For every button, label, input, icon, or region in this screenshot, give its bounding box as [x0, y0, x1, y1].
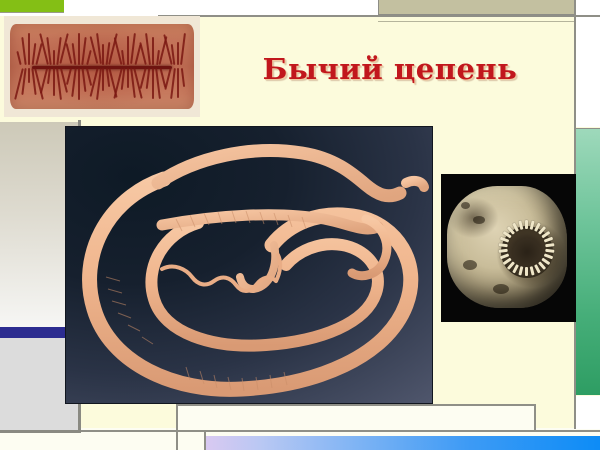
decor-white-panel-bottomright [576, 396, 600, 429]
decor-horizontal-line-top [158, 15, 600, 17]
proglottid-uterus-branch [85, 68, 91, 86]
proglottid-uterus-branch [78, 33, 80, 65]
slide-canvas: Бычий цепень [0, 0, 600, 450]
proglottid-uterus-branch [102, 68, 104, 91]
scolex-surface-mark [493, 284, 509, 294]
scolex-hook [518, 266, 523, 275]
scolex-surface-mark [463, 260, 477, 270]
decor-rectangle-bottom-center [176, 404, 536, 432]
proglottid-uterus-branch [152, 37, 154, 64]
scolex-hook [525, 267, 528, 276]
figure-scolex-head [441, 174, 576, 322]
proglottid-uterus-branch [81, 68, 86, 92]
decor-khaki-bar-topright [378, 0, 575, 15]
figure-whole-tapeworm [66, 127, 432, 403]
proglottid-uterus-branch [16, 51, 21, 65]
scolex-sucker [501, 226, 553, 278]
proglottid-uterus-branch [180, 33, 186, 65]
proglottid-uterus-branch [21, 37, 26, 65]
decor-blue-gradient-bar-bottom [206, 436, 600, 450]
proglottid-uterus-branch [66, 68, 72, 85]
proglottid-uterus-branches [10, 24, 194, 109]
proglottid-uterus-branch [81, 37, 86, 65]
decor-vertical-tick-bottom-left [176, 430, 178, 450]
proglottid-uterus-branch [146, 68, 151, 89]
proglottid-uterus-branch [53, 50, 55, 64]
proglottid-uterus-branch [86, 50, 91, 65]
proglottid-uterus-branch [152, 68, 154, 99]
scolex-hook [530, 266, 535, 275]
proglottid-uterus-branch [177, 68, 179, 98]
proglottid-tissue [10, 24, 194, 109]
proglottid-uterus-branch [53, 68, 55, 96]
scolex-surface-mark [473, 216, 485, 224]
proglottid-uterus-branch [78, 68, 80, 100]
proglottid-uterus-branch [170, 68, 176, 99]
decor-horizontal-line-bottom-left [0, 430, 81, 433]
scolex-surface-mark [461, 202, 470, 209]
proglottid-uterus-branch [181, 68, 185, 87]
proglottid-uterus-branch [121, 50, 125, 65]
tapeworm-strobila-illustration [66, 127, 432, 403]
proglottid-uterus-branch [127, 36, 129, 65]
proglottid-uterus-branch [28, 68, 30, 83]
page-title: Бычий цепень [220, 48, 560, 90]
proglottid-uterus-branch [127, 68, 129, 88]
decor-green-bar-topleft [0, 0, 64, 13]
figure-proglottid-specimen [4, 16, 200, 117]
proglottid-uterus-branch [28, 33, 30, 65]
decor-horizontal-line-bottom [81, 430, 600, 432]
proglottid-uterus-branch [177, 42, 179, 65]
decor-green-gradient-panel-right [576, 128, 600, 395]
decor-white-panel-topright [576, 17, 600, 127]
decor-horizontal-line-top-secondary [378, 21, 575, 22]
proglottid-uterus-branch [71, 68, 76, 97]
proglottid-uterus-branch [102, 44, 104, 65]
scolex-hook [499, 249, 508, 253]
scolex-hook [525, 220, 528, 229]
proglottid-uterus-branch [145, 33, 151, 65]
scolex-hook [545, 249, 554, 253]
